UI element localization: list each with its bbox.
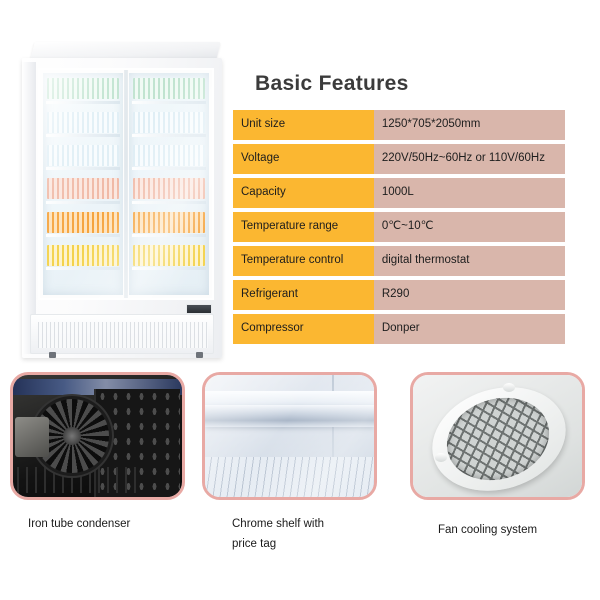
spec-value: digital thermostat <box>374 246 565 276</box>
table-row: Temperature range 0℃~10℃ <box>233 212 565 242</box>
thumb-frame <box>202 372 377 500</box>
spec-key: Compressor <box>233 314 374 344</box>
chrome-shelf-image <box>205 375 374 497</box>
table-row: Refrigerant R290 <box>233 280 565 310</box>
spec-title: Basic Features <box>255 72 565 96</box>
spec-key: Temperature range <box>233 212 374 242</box>
base-vent-panel <box>30 314 214 354</box>
table-row: Unit size 1250*705*2050mm <box>233 110 565 140</box>
thermostat-display <box>186 304 212 314</box>
product-spec-page: Basic Features Unit size 1250*705*2050mm… <box>0 0 600 600</box>
spec-value: 1000L <box>374 178 565 208</box>
louvre-grille <box>38 322 208 348</box>
fan-mount-tab <box>435 453 447 462</box>
specification-table: Unit size 1250*705*2050mm Voltage 220V/5… <box>233 106 565 348</box>
door-seam <box>125 70 128 298</box>
condenser-motor <box>15 417 49 457</box>
spec-value: R290 <box>374 280 565 310</box>
spec-key: Unit size <box>233 110 374 140</box>
table-row: Capacity 1000L <box>233 178 565 208</box>
table-row: Voltage 220V/50Hz~60Hz or 110V/60Hz <box>233 144 565 174</box>
thumb-frame <box>10 372 185 500</box>
condenser-image <box>13 375 182 497</box>
feature-thumb-shelf <box>202 372 377 500</box>
spec-value: 1250*705*2050mm <box>374 110 565 140</box>
caption-fan: Fan cooling system <box>438 520 537 540</box>
thumb-frame <box>410 372 585 500</box>
glass-door-right <box>126 70 212 298</box>
caption-condenser: Iron tube condenser <box>28 514 130 534</box>
spec-value: Donper <box>374 314 565 344</box>
caption-shelf: Chrome shelf with price tag <box>232 514 352 554</box>
feature-thumbnails <box>0 372 600 522</box>
table-row: Compressor Donper <box>233 314 565 344</box>
spec-value: 0℃~10℃ <box>374 212 565 242</box>
spec-key: Capacity <box>233 178 374 208</box>
cabinet-side-panel <box>22 62 36 354</box>
spec-value: 220V/50Hz~60Hz or 110V/60Hz <box>374 144 565 174</box>
glass-door-area <box>38 68 214 300</box>
table-row: Temperature control digital thermostat <box>233 246 565 276</box>
spec-key: Voltage <box>233 144 374 174</box>
fan-mount-tab <box>503 383 515 392</box>
cabinet-foot-right <box>196 352 203 358</box>
glass-door-left <box>40 70 126 298</box>
feature-thumb-fan <box>410 372 585 500</box>
spec-key: Temperature control <box>233 246 374 276</box>
fan-cover-image <box>413 375 582 497</box>
cabinet-foot-left <box>49 352 56 358</box>
spec-key: Refrigerant <box>233 280 374 310</box>
product-photo <box>14 36 228 366</box>
specification-block: Basic Features Unit size 1250*705*2050mm… <box>233 72 565 348</box>
feature-thumb-condenser <box>10 372 185 500</box>
